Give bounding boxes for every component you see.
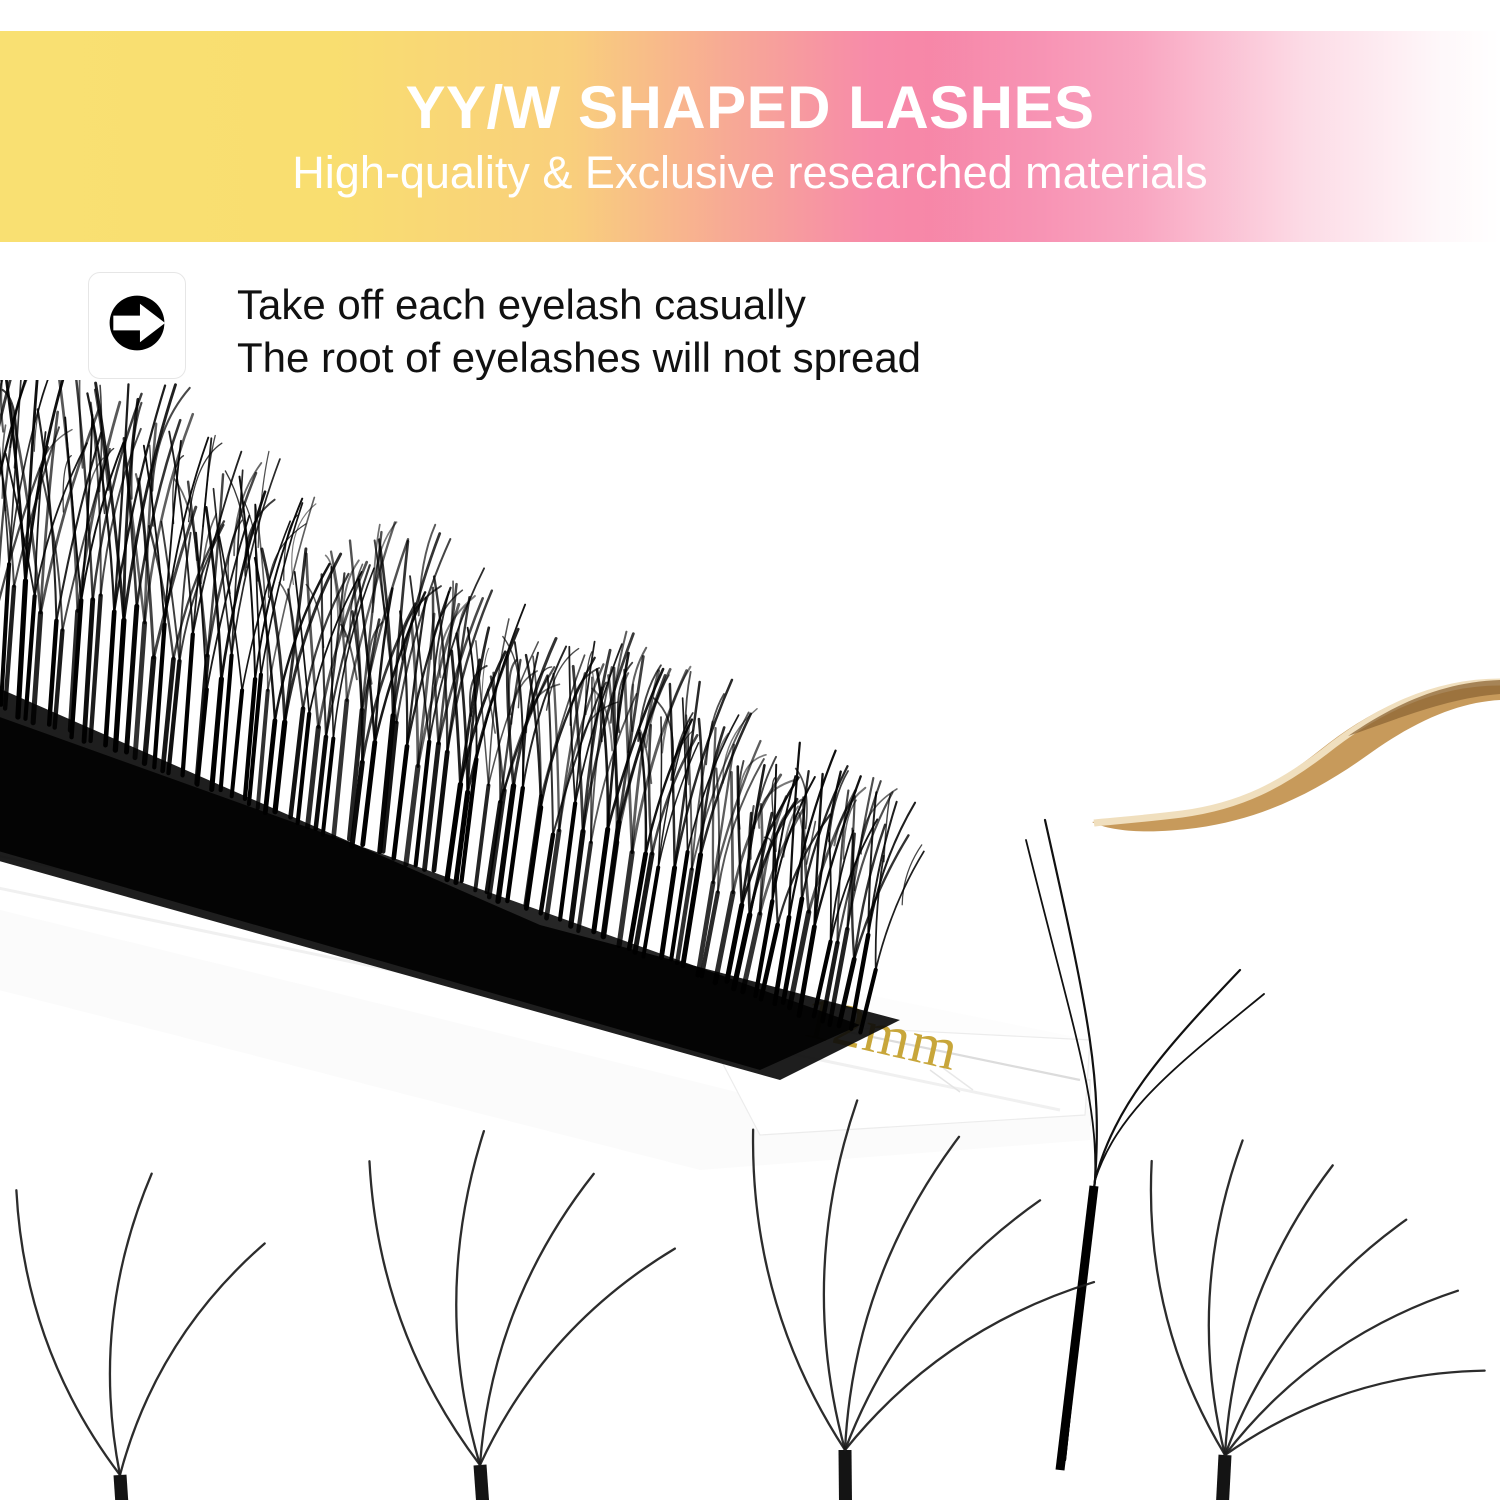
header-banner: YY/W SHAPED LASHES High-quality & Exclus… (0, 31, 1500, 242)
arrow-icon-box (88, 272, 186, 379)
page-subtitle: High-quality & Exclusive researched mate… (292, 150, 1207, 195)
instruction-line-1: Take off each eyelash casually (237, 278, 921, 331)
instruction-text-block: Take off each eyelash casually The root … (237, 272, 921, 385)
instruction-line-2: The root of eyelashes will not spread (237, 331, 921, 384)
page-title: YY/W SHAPED LASHES (405, 78, 1094, 138)
banner-text-container: YY/W SHAPED LASHES High-quality & Exclus… (0, 31, 1500, 242)
product-photo-area: 12mm (0, 380, 1500, 1500)
arrow-right-circle-icon (100, 286, 174, 365)
product-photo-svg: 12mm (0, 380, 1500, 1500)
instruction-row: Take off each eyelash casually The root … (88, 272, 921, 385)
